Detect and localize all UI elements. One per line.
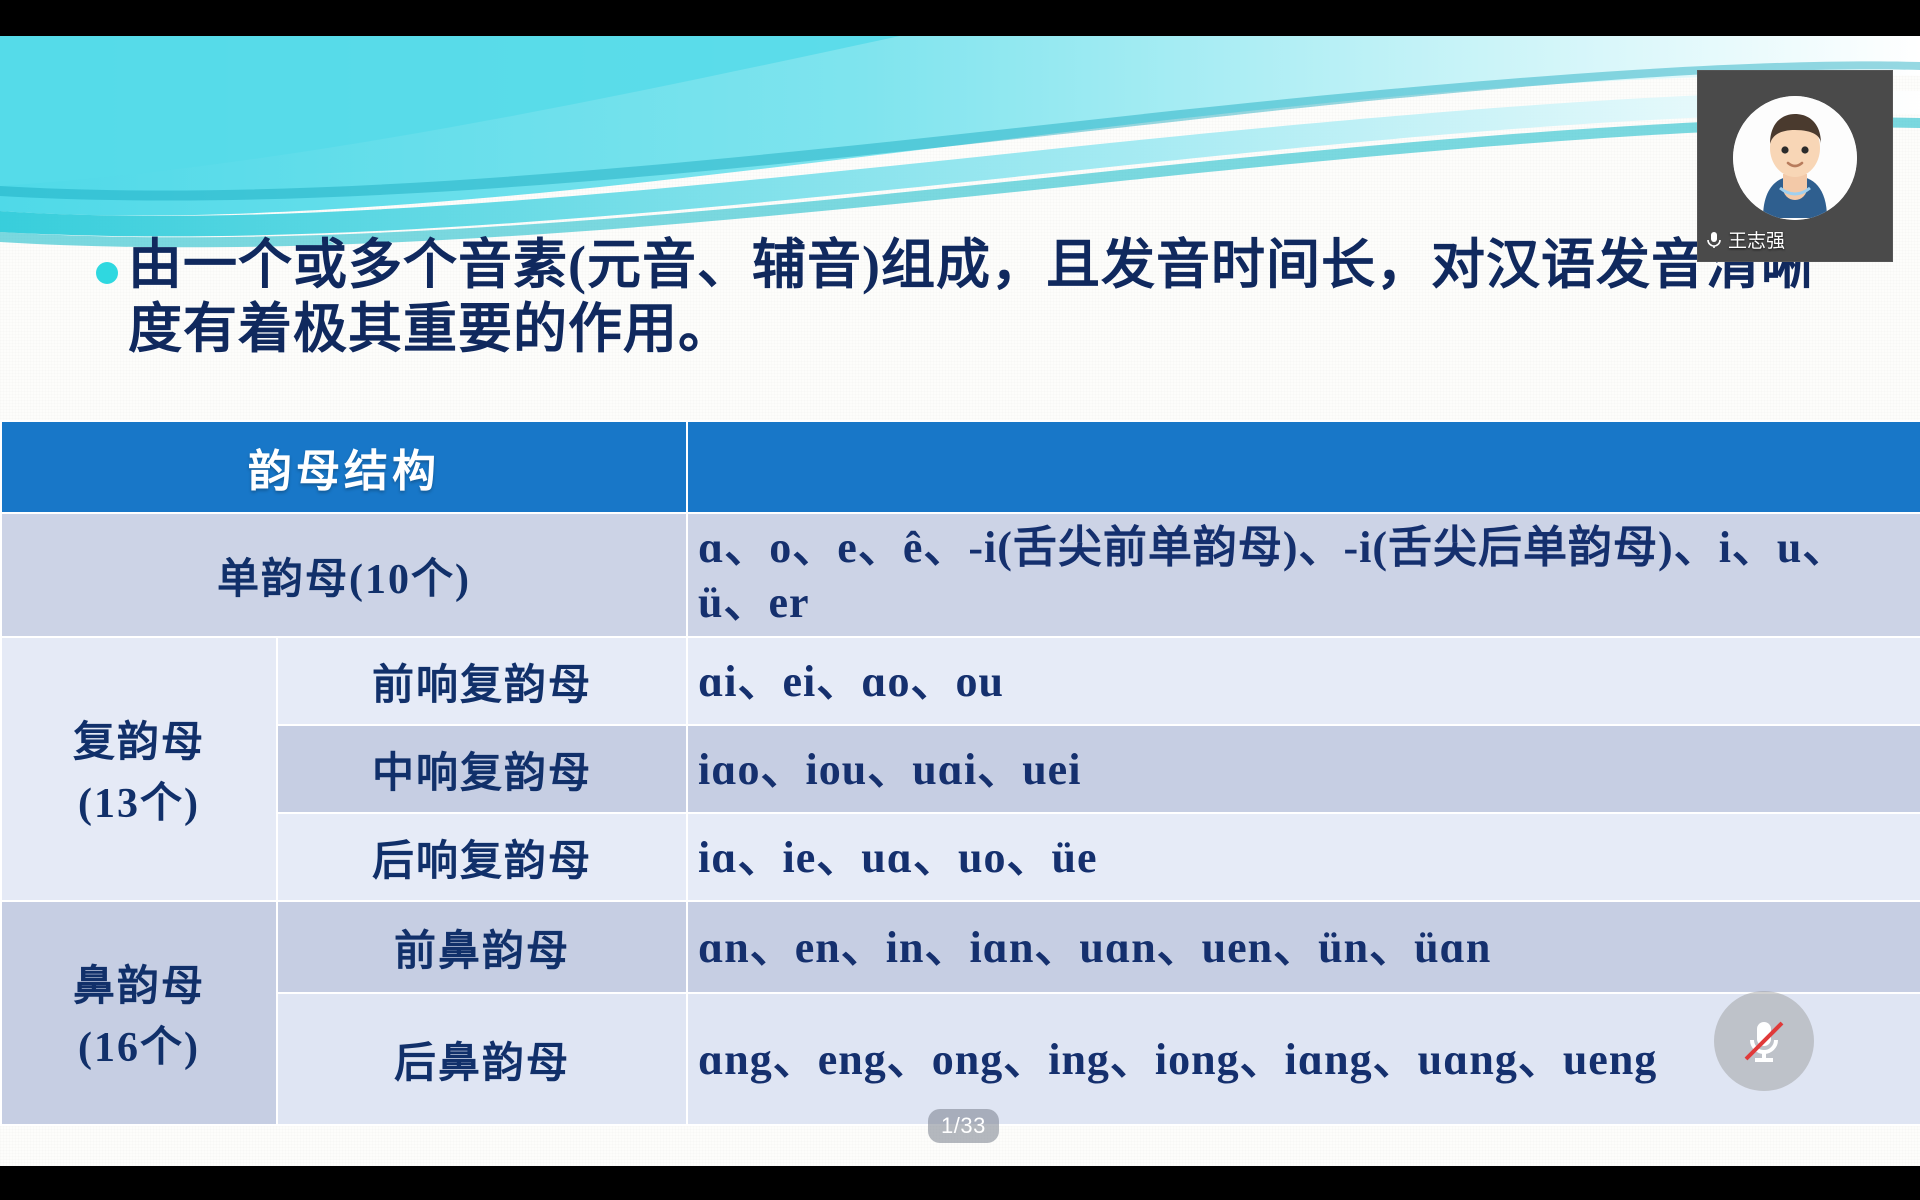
row-value-mid-loud: iɑo、iou、uɑi、uei bbox=[687, 725, 1920, 813]
participant-video-thumbnail[interactable]: 王志强 bbox=[1697, 70, 1893, 262]
row-subtype-mid-loud: 中响复韵母 bbox=[277, 725, 687, 813]
row-subtype-back-loud: 后响复韵母 bbox=[277, 813, 687, 901]
page-indicator: 1/33 bbox=[928, 1109, 999, 1143]
presentation-slide[interactable]: 由一个或多个音素(元音、辅音)组成，且发音时间长，对汉语发音清晰度有着极其重要的… bbox=[0, 36, 1920, 1166]
group-label-line2: (16个) bbox=[12, 1013, 266, 1074]
table-row: 后响复韵母 iɑ、ie、uɑ、uo、üe bbox=[1, 813, 1920, 901]
avatar bbox=[1733, 96, 1857, 220]
table-row: 后鼻韵母 ɑng、eng、ong、ing、iong、iɑng、uɑng、ueng bbox=[1, 993, 1920, 1125]
row-group-compound-finals: 复韵母 (13个) bbox=[1, 637, 277, 901]
table-row: 中响复韵母 iɑo、iou、uɑi、uei bbox=[1, 725, 1920, 813]
screen: 由一个或多个音素(元音、辅音)组成，且发音时间长，对汉语发音清晰度有着极其重要的… bbox=[0, 0, 1920, 1200]
bullet-text: 由一个或多个音素(元音、辅音)组成，且发音时间长，对汉语发音清晰度有着极其重要的… bbox=[128, 234, 1856, 361]
table-row: 鼻韵母 (16个) 前鼻韵母 ɑn、en、in、iɑn、uɑn、uen、ün、ü… bbox=[1, 901, 1920, 993]
participant-name-chip: 王志强 bbox=[1706, 226, 1785, 253]
slide-bullet: 由一个或多个音素(元音、辅音)组成，且发音时间长，对汉语发音清晰度有着极其重要的… bbox=[96, 234, 1856, 361]
letterbox-top bbox=[0, 0, 1920, 36]
finals-structure-table: 韵母结构 单韵母(10个) ɑ、o、e、ê、-i(舌尖前单韵母)、-i(舌尖后单… bbox=[0, 420, 1920, 1126]
group-label-line1: 鼻韵母 bbox=[12, 952, 266, 1013]
table-row: 单韵母(10个) ɑ、o、e、ê、-i(舌尖前单韵母)、-i(舌尖后单韵母)、i… bbox=[1, 513, 1920, 637]
group-label-line1: 复韵母 bbox=[12, 708, 266, 769]
participant-name: 王志强 bbox=[1728, 226, 1785, 253]
table-header-examples bbox=[687, 421, 1920, 513]
row-value-back-loud: iɑ、ie、uɑ、uo、üe bbox=[687, 813, 1920, 901]
table-header-structure: 韵母结构 bbox=[1, 421, 687, 513]
table-row: 复韵母 (13个) 前响复韵母 ɑi、ei、ɑo、ou bbox=[1, 637, 1920, 725]
row-subtype-front-nasal: 前鼻韵母 bbox=[277, 901, 687, 993]
row-subtype-back-nasal: 后鼻韵母 bbox=[277, 993, 687, 1125]
microphone-muted-icon bbox=[1733, 1010, 1795, 1072]
table-header-row: 韵母结构 bbox=[1, 421, 1920, 513]
row-value-single-finals: ɑ、o、e、ê、-i(舌尖前单韵母)、-i(舌尖后单韵母)、i、u、ü、er bbox=[687, 513, 1920, 637]
group-label-line2: (13个) bbox=[12, 769, 266, 830]
bullet-dot-icon bbox=[96, 262, 118, 284]
row-group-nasal-finals: 鼻韵母 (16个) bbox=[1, 901, 277, 1125]
row-value-front-nasal: ɑn、en、in、iɑn、uɑn、uen、ün、üɑn bbox=[687, 901, 1920, 993]
microphone-icon bbox=[1706, 231, 1724, 249]
row-category-single-finals: 单韵母(10个) bbox=[1, 513, 687, 637]
mic-mute-button[interactable] bbox=[1714, 991, 1814, 1091]
letterbox-bottom bbox=[0, 1166, 1920, 1200]
row-value-front-loud: ɑi、ei、ɑo、ou bbox=[687, 637, 1920, 725]
row-subtype-front-loud: 前响复韵母 bbox=[277, 637, 687, 725]
